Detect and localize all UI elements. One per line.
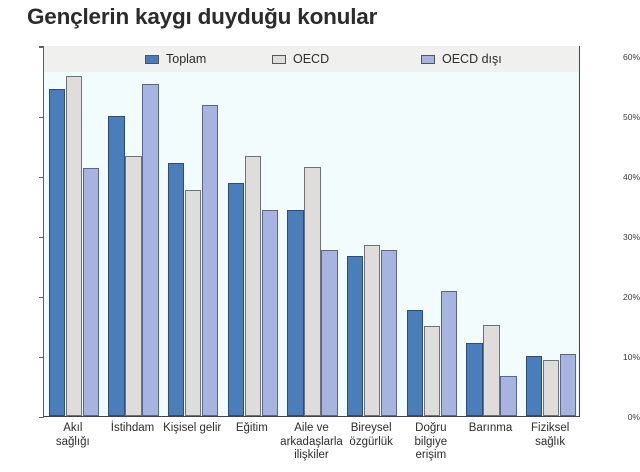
bar[interactable]: [262, 210, 279, 416]
y-axis-tick-mark: [39, 297, 44, 298]
bar[interactable]: [381, 250, 398, 416]
bar[interactable]: [108, 116, 125, 416]
bar[interactable]: [364, 245, 381, 416]
bar[interactable]: [125, 156, 142, 416]
y-axis-tick-mark: [39, 417, 44, 418]
y-axis-tick-label: 40%: [606, 172, 640, 182]
y-axis-tick-mark: [39, 237, 44, 238]
bar-group: [462, 46, 522, 416]
y-axis-tick-label: 0%: [606, 412, 640, 422]
bar[interactable]: [441, 291, 458, 416]
bar[interactable]: [483, 325, 500, 416]
bar[interactable]: [543, 360, 560, 416]
bar-group: [402, 46, 462, 416]
y-axis-tick-label: 30%: [606, 232, 640, 242]
plot-area: ToplamOECDOECD dışı: [43, 46, 580, 417]
bar[interactable]: [287, 210, 304, 416]
bar[interactable]: [466, 343, 483, 416]
y-axis-tick-label: 60%: [606, 52, 640, 62]
chart-container: Gençlerin kaygı duyduğu konular ToplamOE…: [0, 0, 640, 472]
bar[interactable]: [560, 354, 577, 416]
bar[interactable]: [168, 163, 185, 416]
bar[interactable]: [321, 250, 338, 416]
y-axis-tick-mark: [39, 177, 44, 178]
bar[interactable]: [500, 376, 517, 416]
bar[interactable]: [83, 168, 100, 416]
bar[interactable]: [228, 183, 245, 416]
bar[interactable]: [66, 76, 83, 416]
chart-title: Gençlerin kaygı duyduğu konular: [27, 4, 377, 30]
x-axis-category-label: Fiziksel sağlık: [502, 422, 598, 449]
bar[interactable]: [526, 356, 543, 416]
bar[interactable]: [245, 156, 262, 416]
y-axis-tick-mark: [39, 357, 44, 358]
y-axis-tick-mark: [39, 117, 44, 118]
bar-group: [342, 46, 402, 416]
bar[interactable]: [185, 190, 202, 416]
bar-group: [283, 46, 343, 416]
bar[interactable]: [424, 326, 441, 416]
bar[interactable]: [142, 84, 159, 416]
bar-group: [223, 46, 283, 416]
bar-group: [521, 46, 581, 416]
bar-group: [44, 46, 104, 416]
bar[interactable]: [347, 256, 364, 416]
y-axis-tick-label: 50%: [606, 112, 640, 122]
bar-group: [104, 46, 164, 416]
y-axis-tick-label: 10%: [606, 352, 640, 362]
bar[interactable]: [407, 310, 424, 416]
bar[interactable]: [304, 167, 321, 416]
bar[interactable]: [202, 105, 219, 416]
bar-group: [163, 46, 223, 416]
bar[interactable]: [49, 89, 66, 416]
y-axis-tick-label: 20%: [606, 292, 640, 302]
